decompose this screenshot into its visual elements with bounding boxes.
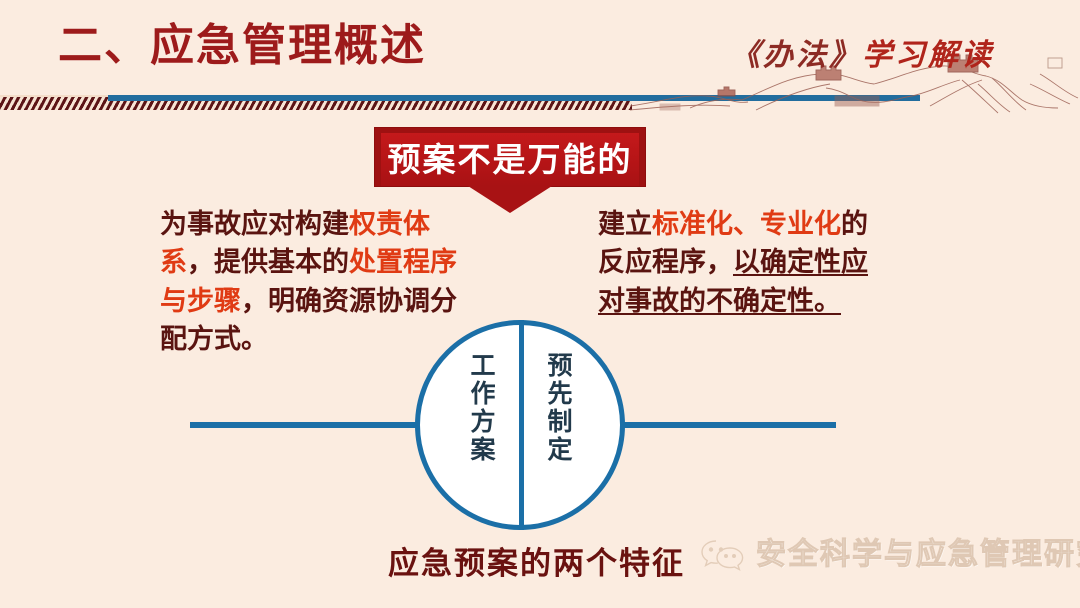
banner-frame: 预案不是万能的 xyxy=(374,127,646,187)
slide-canvas: 二、应急管理概述 《办法》学习 xyxy=(0,0,1080,608)
left-paragraph-segment-0: 为事故应对构建 xyxy=(160,209,349,239)
header-blue-rule xyxy=(108,95,920,101)
wechat-watermark: 安全科学与应急管理研究 xyxy=(700,538,1080,572)
banner-title: 预案不是万能的 xyxy=(388,143,633,176)
red-banner: 预案不是万能的 xyxy=(374,127,646,187)
right-paragraph-segment-1: 标准化、专业化 xyxy=(652,209,841,239)
slogan-bracket-part: 《办法》 xyxy=(730,39,862,72)
banner-tail-arrow xyxy=(468,186,552,213)
circle-divider-line xyxy=(519,320,524,530)
wechat-icon xyxy=(700,538,744,572)
left-paragraph: 为事故应对构建权责体系，提供基本的处置程序与步骤，明确资源协调分配方式。 xyxy=(160,205,460,358)
banner-inner: 预案不是万能的 xyxy=(381,133,639,186)
connector-line-right xyxy=(618,422,836,428)
watermark-text: 安全科学与应急管理研究 xyxy=(756,540,1080,570)
page-title: 二、应急管理概述 xyxy=(58,24,426,68)
diagram-caption: 应急预案的两个特征 xyxy=(388,548,685,579)
circle-label-right: 预先制定 xyxy=(545,352,570,464)
left-paragraph-segment-2: ，提供基本的 xyxy=(187,247,349,277)
slogan-main-part: 学习解读 xyxy=(862,39,994,72)
connector-line-left xyxy=(190,422,425,428)
header-slogan: 《办法》学习解读 xyxy=(730,30,994,74)
right-paragraph-segment-0: 建立 xyxy=(598,209,652,239)
circle-label-left: 工作方案 xyxy=(468,352,493,464)
right-paragraph: 建立标准化、专业化的反应程序，以确定性应对事故的不确定性。 xyxy=(598,205,890,320)
